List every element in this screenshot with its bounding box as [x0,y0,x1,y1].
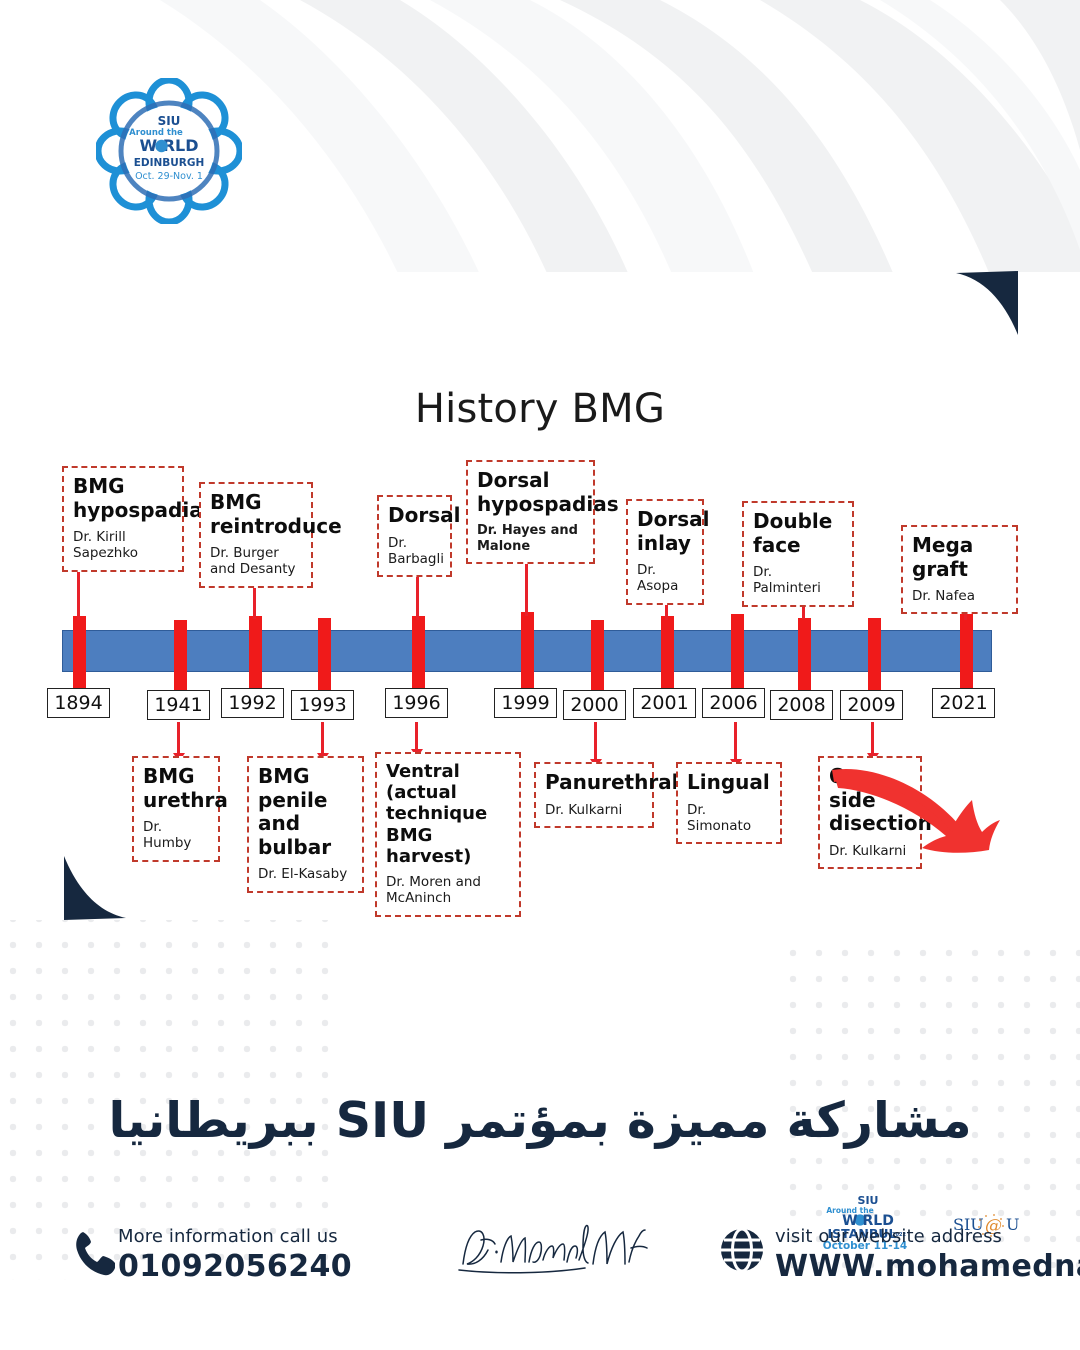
event-box-panurethral: Panurethral Dr. Kulkarni [534,762,654,828]
event-title: Doubleface [753,510,843,557]
event-author: Dr. Nafea [912,588,1007,604]
event-author: Dr. Hayes and Malone [477,523,584,554]
connector-arrow-down [415,722,418,750]
corner-accent-top-right [956,271,1018,335]
phone-label: More information call us [118,1226,352,1247]
phone-number[interactable]: 01092056240 [118,1249,352,1284]
doctor-signature: Dr.Mohamed Nafie [455,1218,655,1282]
event-box-ventral-harvest: Ventral (actualtechnique BMGharvest) Dr.… [375,752,521,917]
event-box-bmg-urethra: BMGurethra Dr. Humby [132,756,220,862]
event-box-dorsal-inlay: Dorsalinlay Dr. Asopa [626,499,704,605]
event-box-mega-graft: Mega graft Dr. Nafea [901,525,1018,614]
year-chip-2001: 2001 [633,688,696,718]
phone-info: More information call us 01092056240 [118,1226,352,1284]
event-author: Dr. Barbagli [388,535,441,567]
year-chip-2008: 2008 [770,690,833,720]
svg-text:EDINBURGH: EDINBURGH [134,157,205,169]
event-box-bmg-reintroduce: BMGreintroduce Dr. Burger and Desanty [199,482,313,588]
history-bmg-timeline-slide: History BMG BMGhypospadias Dr. Kirill Sa… [0,350,1080,910]
connector-arrow-down [871,722,874,754]
red-highlight-arrow-icon [826,762,1006,872]
year-chip-1992: 1992 [221,688,284,718]
phone-icon [74,1230,116,1276]
event-author: Dr. Asopa [637,562,693,594]
year-chip-2000: 2000 [563,690,626,720]
event-author: Dr. Kulkarni [545,802,643,818]
event-title: Ventral (actualtechnique BMGharvest) [386,761,510,867]
connector-arrow-down [734,722,737,760]
svg-text:Oct. 29-Nov. 1: Oct. 29-Nov. 1 [135,171,203,182]
event-author: Dr. Simonato [687,802,771,834]
year-chip-2009: 2009 [840,690,903,720]
slide-title: History BMG [0,386,1080,432]
event-box-lingual: Lingual Dr. Simonato [676,762,782,844]
event-title: BMGhypospadias [73,475,173,522]
event-title: Dorsalinlay [637,508,693,555]
event-title: Panurethral [545,771,643,795]
event-title: BMG penileand bulbar [258,765,353,859]
event-title: BMGreintroduce [210,491,302,538]
event-author: Dr. Kirill Sapezhko [73,529,173,561]
svg-text:SIU: SIU [158,114,181,128]
event-author: Dr. Humby [143,819,209,851]
website-label: visit our website address [775,1226,1080,1247]
event-box-bmg-penile-bulbar: BMG penileand bulbar Dr. El-Kasaby [247,756,364,893]
event-title: Dorsal [388,504,441,528]
year-chip-1941: 1941 [147,690,210,720]
event-box-dorsal-hypospadias: Dorsalhypospadias Dr. Hayes and Malone [466,460,595,564]
event-title: Lingual [687,771,771,795]
website-info: visit our website address WWW.mohamednaf… [775,1226,1080,1284]
year-chip-1993: 1993 [291,690,354,720]
event-author: Dr. El-Kasaby [258,866,353,882]
svg-text:W RLD: W RLD [139,136,198,155]
connector-arrow-down [594,722,597,760]
siu-edinburgh-logo: SIU Around the W RLD EDINBURGH Oct. 29-N… [96,78,242,224]
website-url[interactable]: WWW.mohamednafe3.com [775,1249,1080,1284]
year-chip-2006: 2006 [702,688,765,718]
year-chip-1996: 1996 [385,688,448,718]
connector-arrow-down [177,722,180,754]
connector-arrow-down [321,722,324,754]
event-author: Dr. Burger and Desanty [210,545,302,577]
event-author: Dr. Palminteri [753,564,843,596]
event-title: Mega graft [912,534,1007,581]
year-chip-2021: 2021 [932,688,995,718]
event-box-double-face: Doubleface Dr. Palminteri [742,501,854,607]
arabic-headline: مشاركة مميزة بمؤتمر SIU ببريطانيا [0,1092,1080,1149]
globe-icon [719,1227,765,1273]
event-box-dorsal: Dorsal Dr. Barbagli [377,495,452,577]
event-box-bmg-hypospadias: BMGhypospadias Dr. Kirill Sapezhko [62,466,184,572]
event-title: BMGurethra [143,765,209,812]
event-title: Dorsalhypospadias [477,469,584,516]
event-author: Dr. Moren and McAninch [386,874,510,906]
year-chip-1999: 1999 [494,688,557,718]
year-chip-1894: 1894 [47,688,110,718]
